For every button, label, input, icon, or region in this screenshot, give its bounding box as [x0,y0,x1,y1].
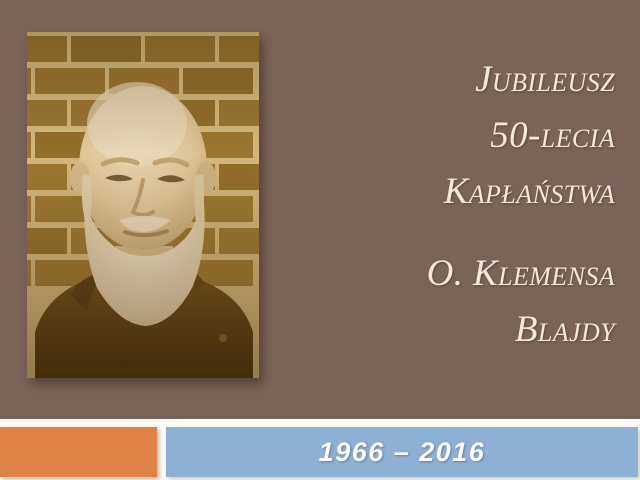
presentation-slide: Jubileusz 50-lecia Kapłaństwa O. Klemens… [0,0,640,480]
title-line-2: 50-lecia [290,108,615,164]
date-range-text: 1966 – 2016 [319,437,486,468]
portrait-photo-image [27,32,259,378]
title-line-1: Jubileusz [290,52,615,108]
slide-title: Jubileusz 50-lecia Kapłaństwa O. Klemens… [290,52,615,358]
date-bar: 1966 – 2016 [166,427,638,477]
subtitle-line-1: O. Klemensa [290,246,615,302]
portrait-photo [27,32,259,378]
subtitle-line-2: Blajdy [290,302,615,358]
title-line-3: Kapłaństwa [290,164,615,220]
orange-accent-block [0,427,157,477]
